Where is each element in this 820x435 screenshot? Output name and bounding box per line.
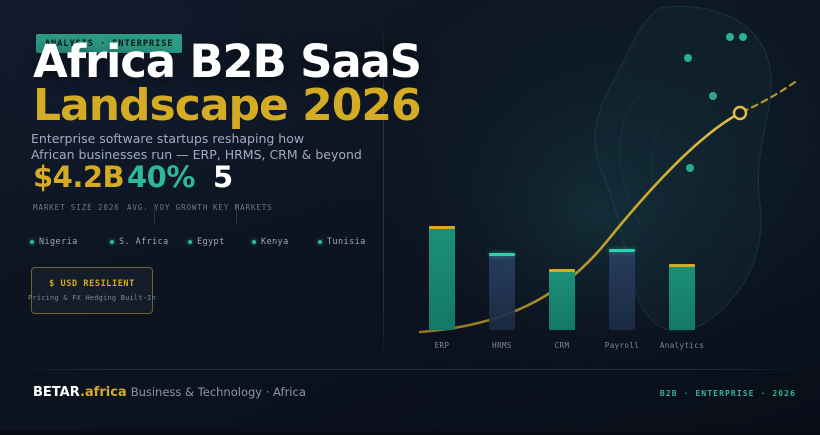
brand-logo: BETAR.africaBusiness & Technology · Afri… (33, 385, 306, 400)
legend-item-label: Tunisia (327, 237, 366, 247)
brand-tagline: Business & Technology · Africa (131, 385, 306, 399)
x-axis-label: ERP (412, 341, 472, 350)
legend-dot-icon (252, 240, 256, 244)
stat-yoy-growth-value: 40% (127, 160, 195, 194)
footer-meta: B2B · ENTERPRISE · 2026 (660, 389, 796, 398)
bar-cap (489, 253, 515, 256)
legend-item-label: Nigeria (39, 237, 78, 247)
legend-dot-icon (188, 240, 192, 244)
stat-separator-2 (236, 205, 237, 223)
bar-fill (489, 255, 515, 330)
page-subtitle-line1: Enterprise software startups reshaping h… (31, 131, 362, 147)
bar-hrms (489, 255, 515, 330)
africa-inner-line-2 (651, 120, 664, 190)
footer-divider (24, 369, 796, 370)
legend-item-label: Egypt (197, 237, 225, 247)
bar-cap (429, 226, 455, 229)
stat-yoy-growth-label: AVG. YOY GROWTH (127, 203, 208, 212)
stat-key-markets-label: KEY MARKETS (213, 203, 273, 212)
usd-resilient-callout: $ USD RESILIENT Pricing & FX Hedging Bui… (31, 267, 153, 314)
map-dot-group (684, 33, 747, 172)
bar-cap (609, 249, 635, 252)
stat-key-markets-value: 5 (213, 160, 233, 194)
page-subtitle: Enterprise software startups reshaping h… (31, 131, 362, 163)
bar-fill (669, 266, 695, 330)
growth-curve-projection (742, 80, 798, 112)
x-axis-label: CRM (532, 341, 592, 350)
stat-key-markets: 5 KEY MARKETS (213, 160, 233, 194)
legend-dot-icon (110, 240, 114, 244)
bar-fill (609, 251, 635, 330)
callout-title: $ USD RESILIENT (49, 279, 135, 289)
bar-fill (549, 271, 575, 330)
callout-subtitle: Pricing & FX Hedging Built-In (28, 294, 156, 302)
legend-dot-icon (318, 240, 322, 244)
bar-cap (669, 264, 695, 267)
stat-market-size-label: MARKET SIZE 2026 (33, 203, 120, 212)
legend-item-tunisia: Tunisia (318, 237, 366, 247)
stat-yoy-growth: 40% AVG. YOY GROWTH (127, 160, 195, 194)
stat-market-size-value: $4.2B (33, 160, 124, 194)
brand-name: BETAR (33, 385, 80, 400)
bar-crm (549, 271, 575, 330)
legend-item-kenya: Kenya (252, 237, 289, 247)
bar-payroll (609, 251, 635, 330)
brand-accent: .africa (80, 385, 127, 400)
legend-item-s-africa: S. Africa (110, 237, 169, 247)
page-title-line2: Landscape 2026 (33, 80, 421, 132)
bar-analytics (669, 266, 695, 330)
x-axis-label: Payroll (592, 341, 652, 350)
bar-cap (549, 269, 575, 272)
x-axis-label: HRMS (472, 341, 532, 350)
legend-dot-icon (30, 240, 34, 244)
category-bar-chart: ERPHRMSCRMPayrollAnalytics (412, 196, 712, 352)
bar-erp (429, 228, 455, 330)
bar-fill (429, 228, 455, 330)
stat-separator-1 (154, 205, 155, 223)
growth-curve-marker (734, 107, 746, 119)
legend-item-nigeria: Nigeria (30, 237, 78, 247)
legend-item-egypt: Egypt (188, 237, 225, 247)
x-axis-label: Analytics (652, 341, 712, 350)
legend-item-label: Kenya (261, 237, 289, 247)
legend-item-label: S. Africa (119, 237, 169, 247)
stat-market-size: $4.2B MARKET SIZE 2026 (33, 160, 124, 194)
